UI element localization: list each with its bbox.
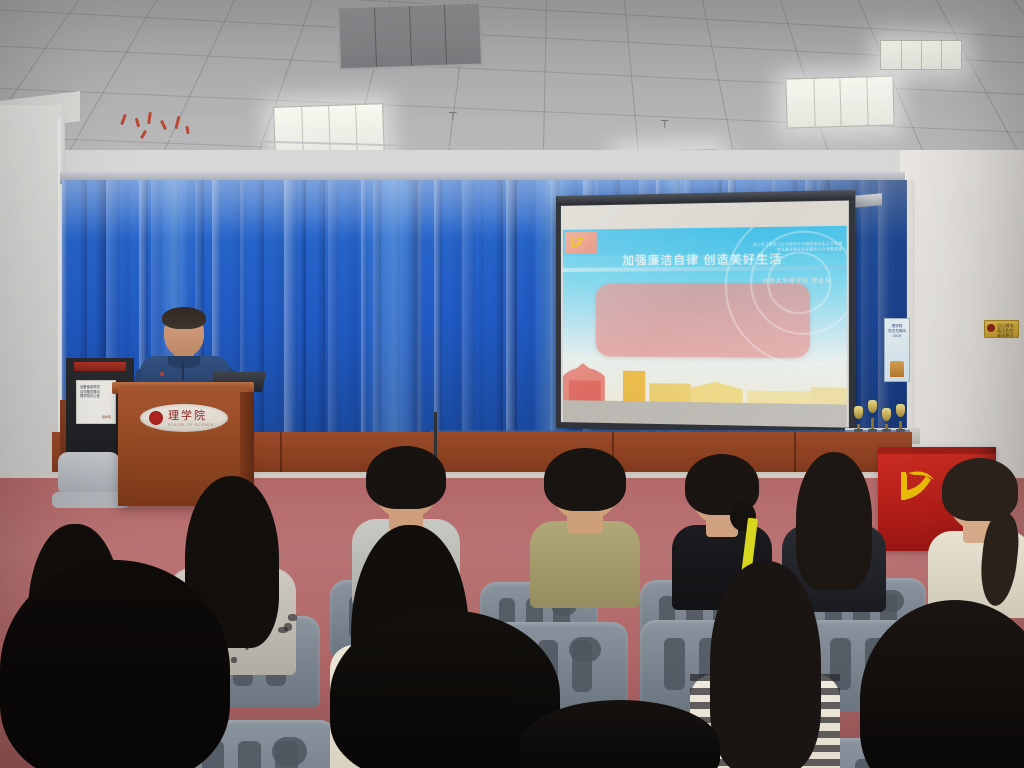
warning-icon [987,324,995,332]
slide-content: 深入学习贯彻习近平新时代中国特色社会主义思想 党风廉政建设和反腐败工作专题讲座 … [563,226,847,405]
audience-torso [530,521,640,608]
chair-slot [272,737,307,766]
olive-tshirt-man [530,452,640,602]
screen-frame: 深入学习贯彻习近平新时代中国特色社会主义思想 党风廉政建设和反腐败工作专题讲座 … [556,190,855,434]
cabinet-notice-text: 设备使用须知 请勿随意搬动 理学院办公室 [80,385,112,399]
speaker-placket [182,362,184,380]
chair-slot [569,637,602,663]
curtain-fold [434,180,442,445]
screen-canvas: 深入学习贯彻习近平新时代中国特色社会主义思想 党风廉政建设和反腐败工作专题讲座 … [561,201,849,428]
chair-slot [238,741,260,768]
electrical-warning-sign: 当心触电 高压危险 请勿靠近 [984,320,1019,338]
projection-screen: 深入学习贯彻习近平新时代中国特色社会主义思想 党风廉政建设和反腐败工作专题讲座 … [556,196,844,428]
curtain-fold [256,180,264,445]
curtain-fold [494,180,502,445]
shirt-pattern [278,627,288,633]
front-left-head [0,560,230,768]
ceiling-air-vent [337,2,483,71]
microphone-clip-icon [160,372,164,376]
audience-hair [544,448,625,511]
warning-line2: 高压危险 请勿靠近 [997,328,1018,338]
curtain-fold [345,180,358,445]
cpc-emblem-icon [565,231,597,253]
curtain-fold [328,180,339,445]
curtain-fold [272,180,283,445]
wall-poster-text: 理学院 党员先锋岗 2019 [887,324,907,339]
audience-hair [366,446,446,509]
speaker-collar [168,356,200,368]
chair-slot [664,638,685,690]
shirt-pattern [231,657,236,663]
speaker-hair [162,307,206,329]
poster-image [890,361,904,377]
ceiling-grid-row [0,8,1024,64]
poster-line3: 2019 [887,334,907,339]
sprinkler-head-icon: ⊤ [448,112,458,123]
notice-stamp: 理学院 [102,415,111,419]
ceiling-decoration [118,112,198,152]
curtain-sunlit-band [362,180,426,445]
cabinet-red-strip [74,362,126,371]
curtain-fold [506,180,517,445]
ceiling-light-panel [880,40,962,70]
curtain-fold [450,180,461,445]
curtain-fold [317,180,325,445]
audience-hair [710,561,821,768]
sprinkler-head-icon: ⊤ [660,120,670,131]
shirt-pattern [288,614,297,621]
audience-hair [942,458,1019,521]
slide-ring-3 [767,251,831,314]
cream-top-woman [928,462,1024,612]
warning-sign-text: 当心触电 高压危险 请勿靠近 [997,323,1018,338]
curtain-fold [478,180,484,445]
curtain-fold [284,180,297,445]
auditorium-photo: ⊤⊤⊤ HDMI [0,0,1024,768]
curtain-fold [300,180,306,445]
notice-line3: 理学院办公室 [80,394,112,399]
cabinet-notice: 设备使用须知 请勿随意搬动 理学院办公室 理学院 [76,380,116,424]
ceiling-light-panel [785,76,894,129]
curtain-fold [462,180,475,445]
wall-poster: 理学院 党员先锋岗 2019 [884,318,910,382]
